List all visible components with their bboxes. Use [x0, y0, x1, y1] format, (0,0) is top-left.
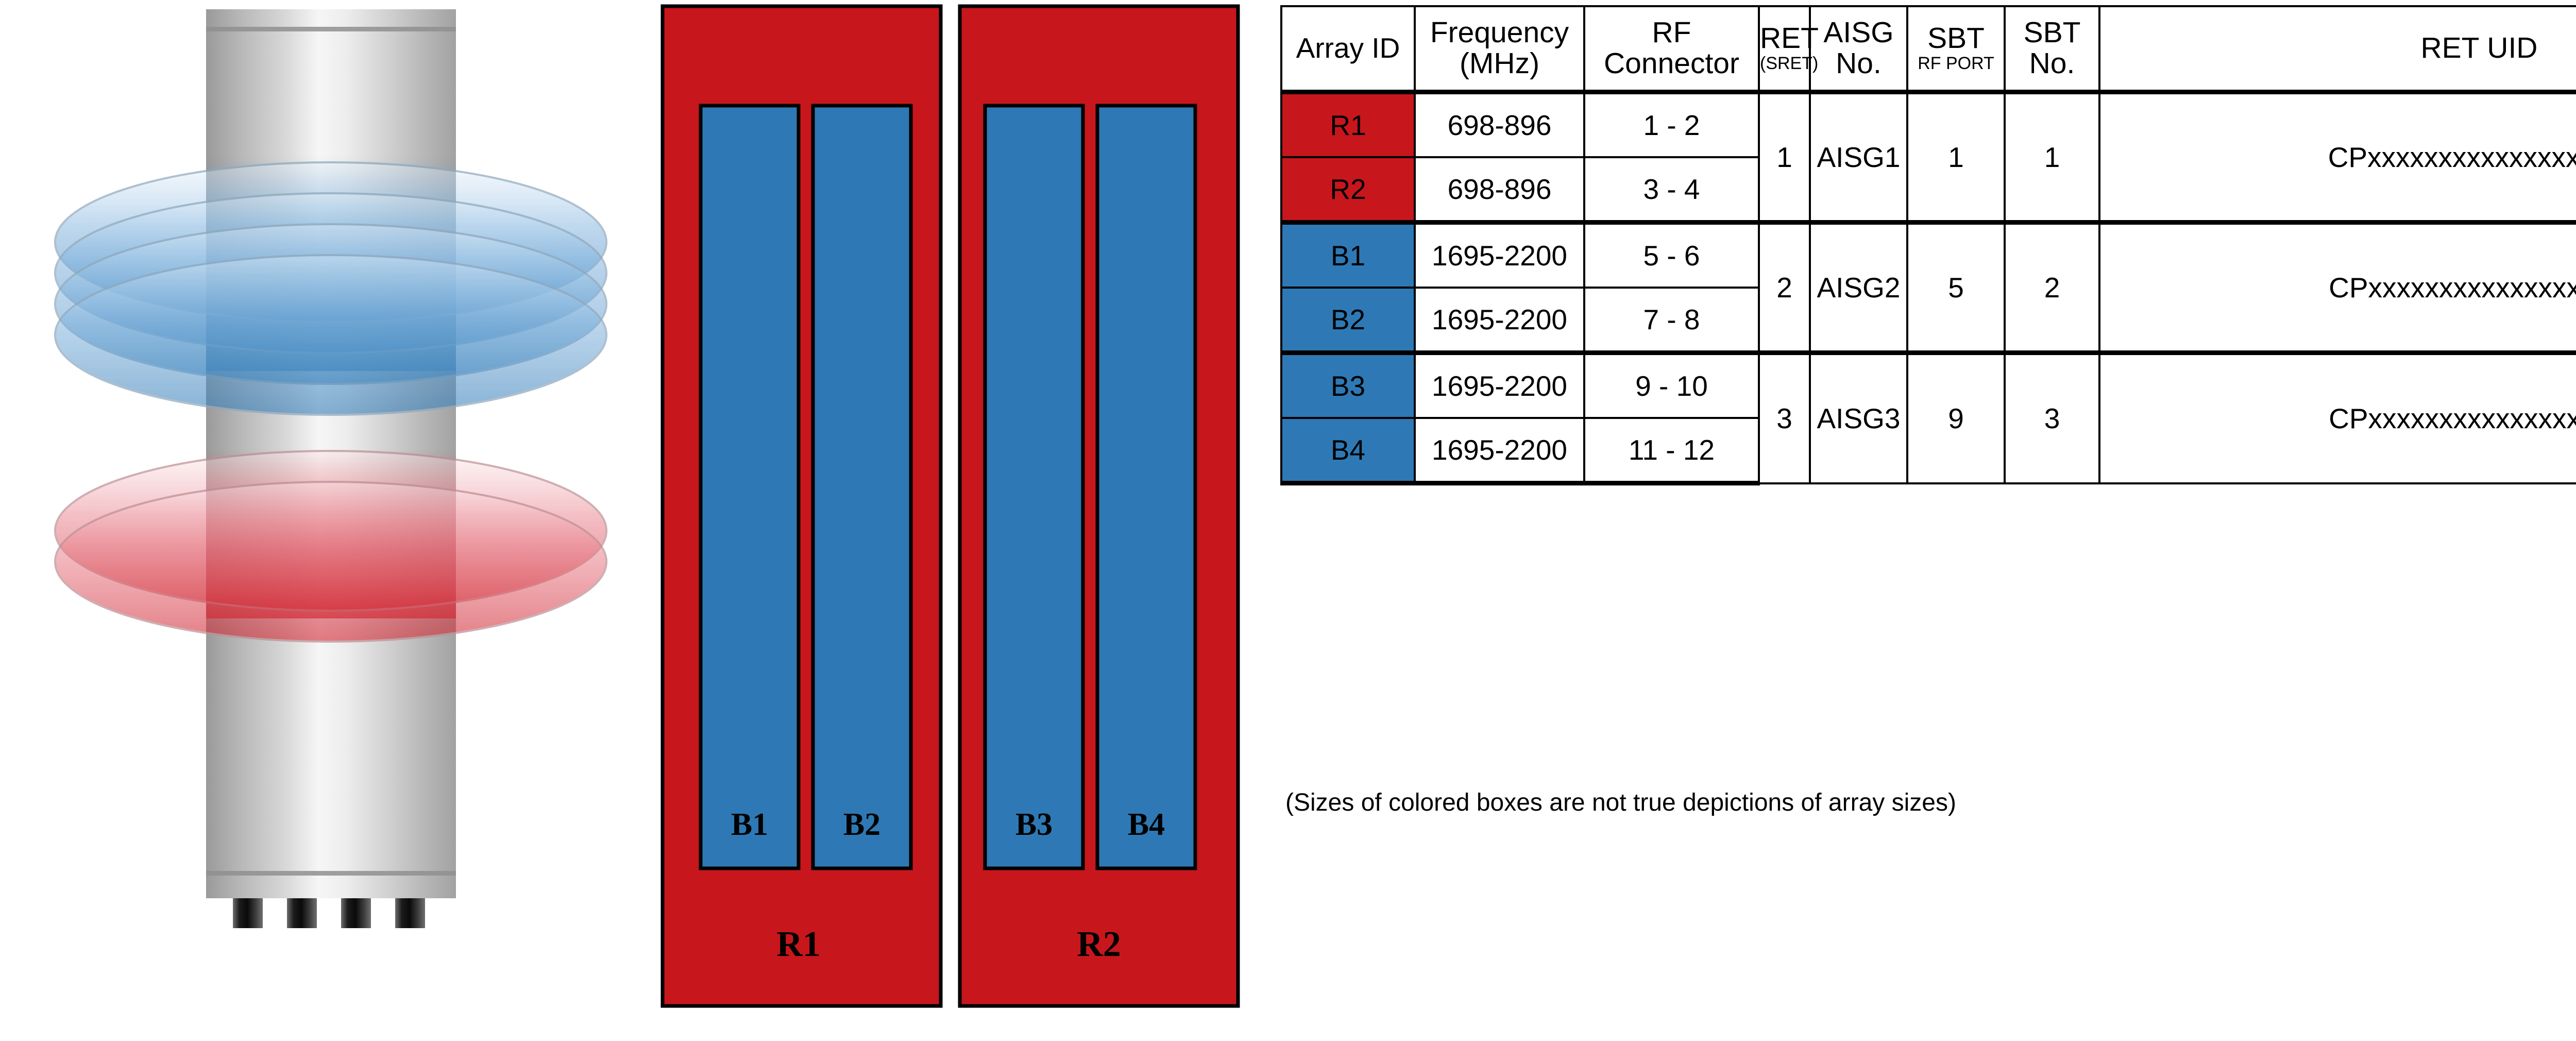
cell-rf-connector: 9 - 10 [1584, 353, 1759, 418]
cell-sbt-rf-port: 1 [1907, 92, 2005, 223]
table-head: Array ID Frequency (MHz) RF Connector RE… [1281, 6, 2576, 92]
cell-ret: 3 [1759, 353, 1810, 483]
cell-frequency: 698-896 [1415, 92, 1584, 158]
header-array-id-label: Array ID [1296, 32, 1400, 64]
header-aisg-line2: No. [1811, 48, 1906, 79]
cell-ret-uid: CPxxxxxxxxxxxxxxxxB3 [2099, 353, 2576, 483]
cell-rf-connector: 11 - 12 [1584, 418, 1759, 483]
cell-array-id: R2 [1281, 157, 1415, 223]
header-array-id: Array ID [1281, 6, 1415, 92]
array-panel-r1: B1 B2 R1 [663, 6, 941, 1006]
blue-beam-disc-4 [55, 255, 606, 415]
cell-frequency: 1695-2200 [1415, 223, 1584, 288]
header-ret-uid-label: RET UID [2100, 33, 2576, 64]
antenna-svg [0, 0, 644, 953]
cell-ret: 2 [1759, 223, 1810, 353]
header-ret-line1: RET [1760, 23, 1809, 54]
table-header-row: Array ID Frequency (MHz) RF Connector RE… [1281, 6, 2576, 92]
sub-array-b1: B1 [701, 106, 799, 868]
connector-pins [233, 898, 425, 928]
header-ret-uid: RET UID [2099, 6, 2576, 92]
sub-array-label-b2: B2 [843, 807, 880, 842]
header-ret-line2: (SRET) [1760, 54, 1809, 74]
sub-array-label-b4: B4 [1128, 807, 1165, 842]
cell-array-id: B1 [1281, 223, 1415, 288]
header-ret: RET (SRET) [1759, 6, 1810, 92]
header-rf-connector: RF Connector [1584, 6, 1759, 92]
cell-aisg-no: AISG3 [1810, 353, 1907, 483]
cell-sbt-rf-port: 5 [1907, 223, 2005, 353]
cell-ret-uid: CPxxxxxxxxxxxxxxxxR1 [2099, 92, 2576, 223]
header-sbt-no-line2: No. [2006, 48, 2098, 79]
cell-sbt-no: 3 [2005, 353, 2099, 483]
configuration-table-region: Array ID Frequency (MHz) RF Connector RE… [1280, 5, 2576, 752]
table-caption: (Sizes of colored boxes are not true dep… [1285, 788, 1956, 817]
header-aisg-line1: AISG [1811, 18, 1906, 48]
table-row: R1 698-896 1 - 2 1 AISG1 1 1 CPxxxxxxxxx… [1281, 92, 2576, 158]
red-beam-discs [55, 451, 606, 642]
sub-array-b2: B2 [813, 106, 911, 868]
cell-rf-connector: 1 - 2 [1584, 92, 1759, 158]
header-rf-line1: RF [1585, 18, 1758, 48]
array-panel-r2: B3 B4 R2 [960, 6, 1238, 1006]
blue-beam-discs [55, 162, 606, 415]
cell-array-id: B2 [1281, 288, 1415, 353]
header-sbt-port-line1: SBT [1908, 23, 2004, 54]
array-panel-label-r2: R2 [1077, 925, 1121, 964]
connector-pin-1 [233, 898, 263, 928]
cell-array-id: R1 [1281, 92, 1415, 158]
table-body: R1 698-896 1 - 2 1 AISG1 1 1 CPxxxxxxxxx… [1281, 92, 2576, 483]
cell-rf-connector: 7 - 8 [1584, 288, 1759, 353]
header-rf-line2: Connector [1585, 48, 1758, 79]
cell-rf-connector: 5 - 6 [1584, 223, 1759, 288]
array-panels-diagram: B1 B2 R1 B3 B4 R2 [659, 0, 1257, 1026]
cell-frequency: 1695-2200 [1415, 418, 1584, 483]
header-frequency-line1: Frequency [1416, 18, 1583, 48]
connector-pin-4 [395, 898, 425, 928]
connector-pin-3 [341, 898, 371, 928]
cell-sbt-rf-port: 9 [1907, 353, 2005, 483]
header-frequency-line2: (MHz) [1416, 48, 1583, 79]
cell-array-id: B3 [1281, 353, 1415, 418]
array-panels-svg: B1 B2 R1 B3 B4 R2 [659, 0, 1257, 1026]
connector-pin-2 [287, 898, 317, 928]
cell-frequency: 1695-2200 [1415, 288, 1584, 353]
cell-sbt-no: 1 [2005, 92, 2099, 223]
header-sbt-rf-port: SBT RF PORT [1907, 6, 2005, 92]
cell-frequency: 698-896 [1415, 157, 1584, 223]
cell-aisg-no: AISG2 [1810, 223, 1907, 353]
red-beam-disc-2 [55, 482, 606, 642]
header-aisg-no: AISG No. [1810, 6, 1907, 92]
cell-ret-uid: CPxxxxxxxxxxxxxxxxB1 [2099, 223, 2576, 353]
table-row: B3 1695-2200 9 - 10 3 AISG3 9 3 CPxxxxxx… [1281, 353, 2576, 418]
array-configuration-table: Array ID Frequency (MHz) RF Connector RE… [1280, 5, 2576, 485]
header-frequency: Frequency (MHz) [1415, 6, 1584, 92]
header-sbt-port-line2: RF PORT [1908, 54, 2004, 74]
header-sbt-no-line1: SBT [2006, 18, 2098, 48]
sub-array-b3: B3 [985, 106, 1083, 868]
sub-array-b4: B4 [1097, 106, 1195, 868]
header-sbt-no: SBT No. [2005, 6, 2099, 92]
cell-rf-connector: 3 - 4 [1584, 157, 1759, 223]
cell-array-id: B4 [1281, 418, 1415, 483]
cell-ret: 1 [1759, 92, 1810, 223]
sub-array-label-b1: B1 [731, 807, 768, 842]
cell-sbt-no: 2 [2005, 223, 2099, 353]
array-panel-label-r1: R1 [776, 925, 821, 964]
sub-array-label-b3: B3 [1015, 807, 1053, 842]
cell-aisg-no: AISG1 [1810, 92, 1907, 223]
table-row: B1 1695-2200 5 - 6 2 AISG2 5 2 CPxxxxxxx… [1281, 223, 2576, 288]
cell-frequency: 1695-2200 [1415, 353, 1584, 418]
antenna-illustration [0, 0, 644, 953]
